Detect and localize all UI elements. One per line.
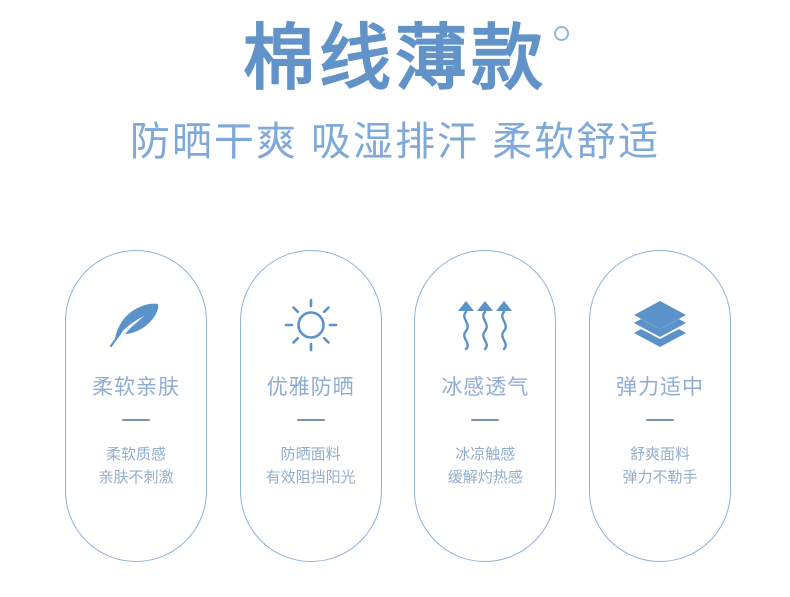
feature-card-breathable[interactable]: 冰感透气 冰凉触感 缓解灼热感 (414, 250, 556, 562)
card-description-line1: 舒爽面料 (622, 443, 697, 466)
card-description-line1: 防晒面料 (266, 443, 356, 466)
card-divider (122, 419, 150, 421)
card-title: 弹力适中 (616, 375, 704, 400)
breathable-arrows-icon (456, 289, 514, 361)
feature-card-elasticity[interactable]: 弹力适中 舒爽面料 弹力不勒手 (589, 250, 731, 562)
layers-icon (631, 289, 689, 361)
card-description-line2: 亲肤不刺激 (98, 466, 173, 489)
main-title-wrap: 棉线薄款 (243, 22, 547, 98)
card-divider (646, 419, 674, 421)
card-description-line2: 缓解灼热感 (448, 466, 523, 489)
card-description-line1: 柔软质感 (98, 443, 173, 466)
card-divider (297, 419, 325, 421)
card-title: 优雅防晒 (267, 375, 355, 400)
degree-circle-icon (554, 26, 569, 41)
banner-header: 棉线薄款 防晒干爽 吸湿排汗 柔软舒适 (0, 0, 790, 166)
card-description: 柔软质感 亲肤不刺激 (98, 443, 173, 490)
feature-card-list: 柔软亲肤 柔软质感 亲肤不刺激 (65, 250, 731, 562)
card-description: 防晒面料 有效阻挡阳光 (266, 443, 356, 490)
card-description: 舒爽面料 弹力不勒手 (622, 443, 697, 490)
feather-icon (108, 289, 164, 361)
card-description: 冰凉触感 缓解灼热感 (448, 443, 523, 490)
card-description-line2: 有效阻挡阳光 (266, 466, 356, 489)
sun-icon (283, 289, 339, 361)
card-description-line1: 冰凉触感 (448, 443, 523, 466)
page-subtitle: 防晒干爽 吸湿排汗 柔软舒适 (0, 118, 790, 166)
card-divider (471, 419, 499, 421)
card-description-line2: 弹力不勒手 (622, 466, 697, 489)
product-feature-banner: 棉线薄款 防晒干爽 吸湿排汗 柔软舒适 柔软亲肤 柔软质感 亲肤不刺激 (0, 0, 790, 597)
feature-card-sun-protection[interactable]: 优雅防晒 防晒面料 有效阻挡阳光 (240, 250, 382, 562)
card-title: 冰感透气 (441, 375, 529, 400)
page-title: 棉线薄款 (243, 22, 547, 98)
feature-card-soft-skin[interactable]: 柔软亲肤 柔软质感 亲肤不刺激 (65, 250, 207, 562)
card-title: 柔软亲肤 (92, 375, 180, 400)
